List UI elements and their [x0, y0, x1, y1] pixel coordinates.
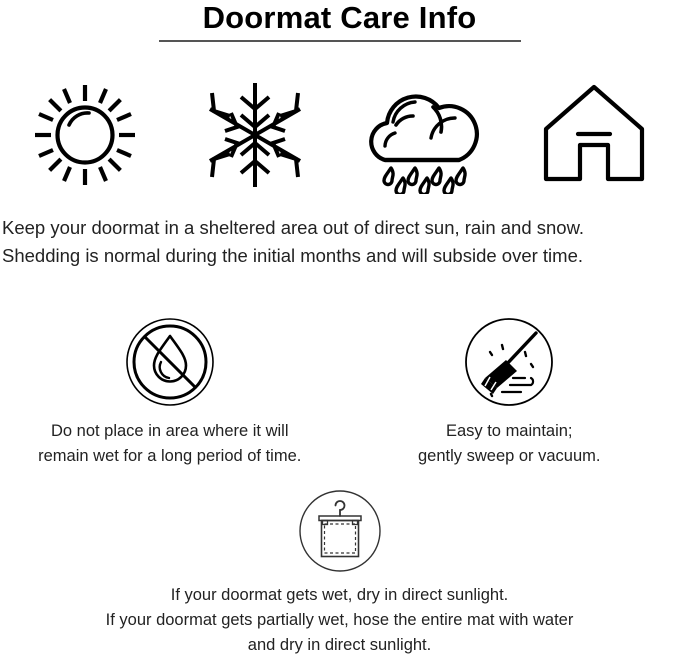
no-water-icon-wrap [124, 312, 216, 412]
care-item-easy-maintain: Easy to maintain; gently sweep or vacuum… [340, 312, 679, 469]
weather-icon-cell-rain [340, 72, 510, 197]
hang-dry-icon [298, 489, 382, 573]
care-item-no-standing-water: Do not place in area where it will remai… [0, 312, 340, 469]
page-header: Doormat Care Info [0, 0, 679, 42]
drying-caption: If your doormat gets wet, dry in direct … [106, 583, 574, 658]
drying-caption-line-2: If your doormat gets partially wet, hose… [106, 608, 574, 633]
intro-paragraph: Keep your doormat in a sheltered area ou… [0, 214, 679, 270]
weather-icon-cell-sun [0, 72, 170, 197]
rain-cloud-icon [363, 76, 485, 194]
care-item-caption-easy-maintain: Easy to maintain; gently sweep or vacuum… [418, 419, 601, 469]
sun-icon [31, 77, 139, 193]
weather-icon-row [0, 72, 679, 197]
caption-line-1: Easy to maintain; [418, 419, 601, 444]
caption-line-2: gently sweep or vacuum. [418, 444, 601, 469]
caption-line-2: remain wet for a long period of time. [38, 444, 301, 469]
drying-caption-line-3: and dry in direct sunlight. [106, 633, 574, 658]
care-item-caption-no-standing-water: Do not place in area where it will remai… [38, 419, 301, 469]
drying-caption-line-1: If your doormat gets wet, dry in direct … [106, 583, 574, 608]
page-title: Doormat Care Info [0, 0, 679, 35]
snowflake-icon [205, 79, 305, 191]
weather-icon-cell-snow [170, 72, 340, 197]
no-water-icon [124, 316, 216, 408]
intro-line-1: Keep your doormat in a sheltered area ou… [2, 214, 679, 242]
hang-dry-icon-wrap [298, 485, 382, 577]
drying-section: If your doormat gets wet, dry in direct … [0, 485, 679, 658]
caption-line-1: Do not place in area where it will [38, 419, 301, 444]
care-items-row: Do not place in area where it will remai… [0, 312, 679, 469]
intro-line-2: Shedding is normal during the initial mo… [2, 242, 679, 270]
title-underline-rule [159, 40, 521, 42]
weather-icon-cell-house [509, 72, 679, 197]
broom-icon-wrap [463, 312, 555, 412]
broom-icon [463, 316, 555, 408]
house-icon [538, 81, 650, 189]
